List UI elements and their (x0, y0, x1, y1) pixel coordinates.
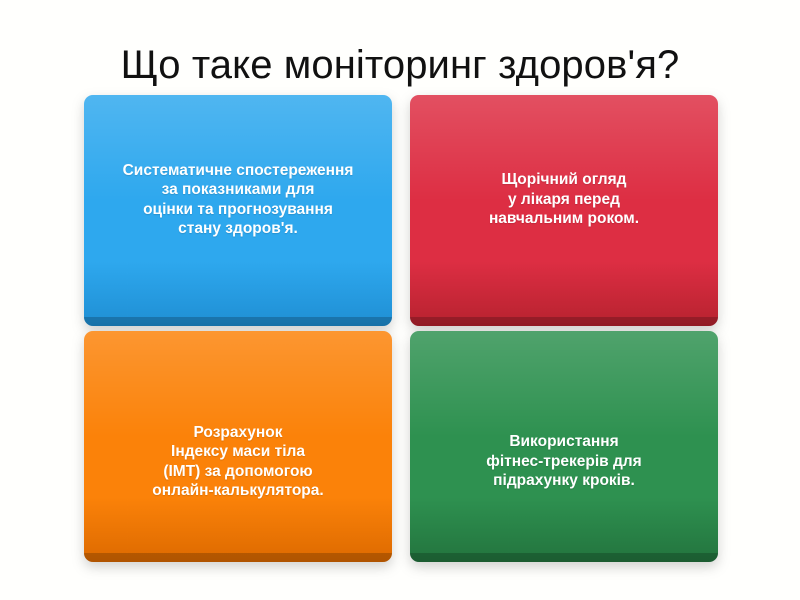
answer-option-blue[interactable]: Систематичне спостереження за показникам… (84, 95, 392, 326)
answer-option-blue-label: Систематичне спостереження за показникам… (100, 161, 376, 239)
answer-option-orange-label: Розрахунок Індексу маси тіла (ІМТ) за до… (100, 423, 376, 501)
answer-option-green-label: Використання фітнес-трекерів для підраху… (426, 432, 702, 491)
answer-option-green[interactable]: Використання фітнес-трекерів для підраху… (410, 331, 718, 562)
answer-options-grid: Систематичне спостереження за показникам… (84, 95, 718, 562)
answer-option-red-label: Щорічний огляд у лікаря перед навчальним… (426, 170, 702, 229)
answer-option-orange[interactable]: Розрахунок Індексу маси тіла (ІМТ) за до… (84, 331, 392, 562)
answer-option-red[interactable]: Щорічний огляд у лікаря перед навчальним… (410, 95, 718, 326)
quiz-slide: Що таке моніторинг здоров'я? Систематичн… (0, 0, 800, 600)
page-title: Що таке моніторинг здоров'я? (0, 39, 800, 91)
